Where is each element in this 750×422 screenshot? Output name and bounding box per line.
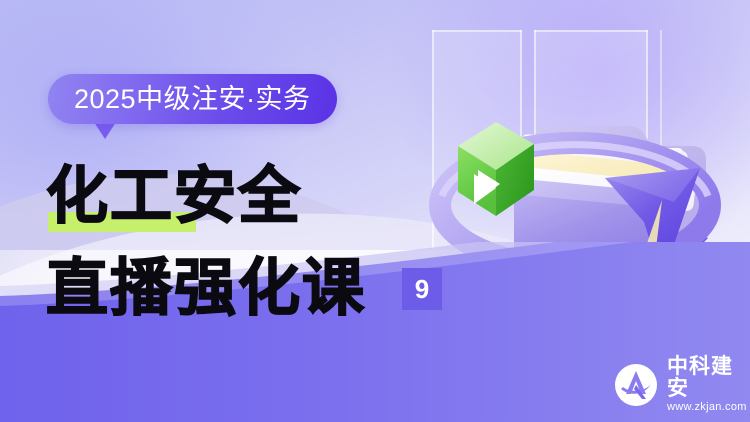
course-category-badge: 2025中级注安·实务 (48, 74, 337, 124)
poster-title-line2: 直播强化课 (46, 258, 366, 320)
course-poster: 2025中级注安·实务 化工安全 直播强化课 9 中科建安 www.zkjan.… (0, 0, 750, 422)
zkjan-circle-logo-icon (614, 363, 658, 407)
brand-name: 中科建安 (667, 356, 750, 400)
episode-number-badge: 9 (402, 268, 442, 310)
episode-number-label: 9 (415, 276, 429, 302)
poster-title-line1: 化工安全 (46, 166, 302, 228)
course-category-badge-label: 2025中级注安·实务 (74, 86, 311, 113)
brand-logo-text: 中科建安 www.zkjan.com (667, 356, 750, 413)
brand-logo: 中科建安 www.zkjan.com (614, 356, 750, 413)
brand-url: www.zkjan.com (667, 402, 750, 413)
